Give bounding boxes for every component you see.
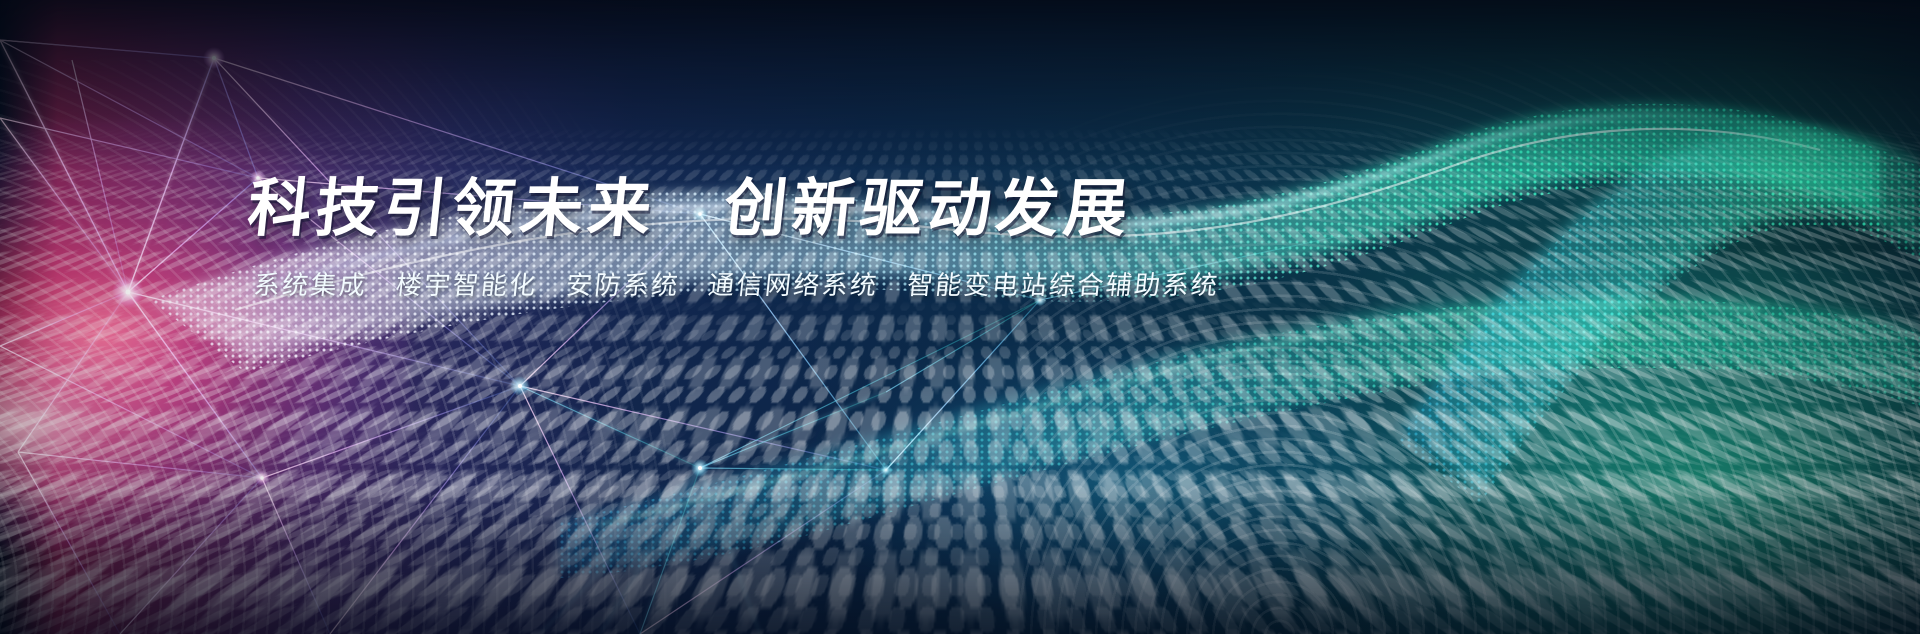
hero-banner: 科技引领未来 创新驱动发展 系统集成 楼宇智能化 安防系统 通信网络系统 智能变… bbox=[0, 0, 1920, 634]
page-title: 科技引领未来 创新驱动发展 bbox=[244, 176, 1371, 243]
network-mesh-lines bbox=[0, 0, 1920, 634]
banner-text-block: 科技引领未来 创新驱动发展 系统集成 楼宇智能化 安防系统 通信网络系统 智能变… bbox=[248, 176, 1368, 302]
banner-subtitle: 系统集成 楼宇智能化 安防系统 通信网络系统 智能变电站综合辅助系统 bbox=[252, 265, 1370, 302]
